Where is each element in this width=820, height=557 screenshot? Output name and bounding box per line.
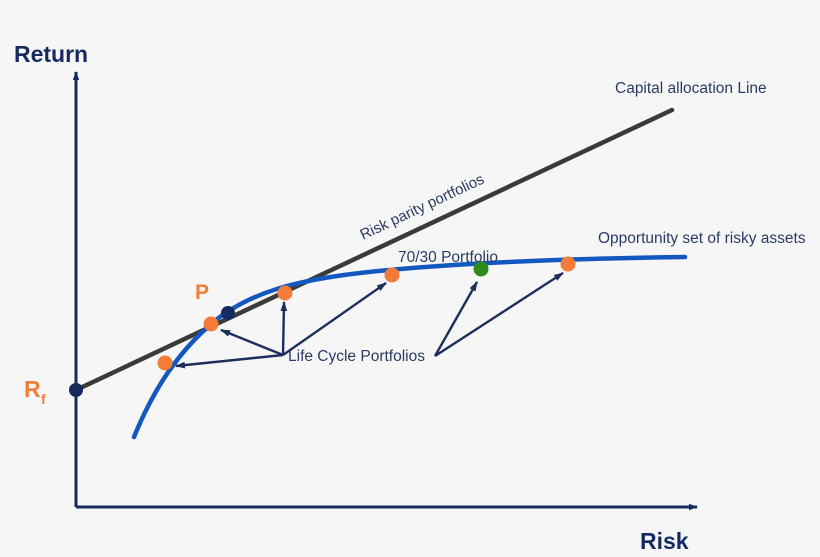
tangency-portfolio-label: P	[195, 281, 209, 304]
capital-allocation-line-label: Capital allocation Line	[615, 80, 767, 97]
capital-allocation-line-diagram: Return Risk R f P	[0, 0, 820, 557]
risk-free-rate-label: R	[24, 376, 41, 402]
risk-free-rate-marker	[69, 383, 83, 397]
life-cycle-marker-5	[561, 257, 576, 272]
opportunity-set-label: Opportunity set of risky assets	[598, 230, 806, 247]
tangency-portfolio-marker	[221, 306, 235, 320]
life-cycle-marker-1	[158, 356, 173, 371]
arrow-to-portfolio-2	[221, 330, 283, 355]
risk-free-rate-subscript: f	[41, 391, 46, 407]
arrow-to-portfolio-5	[435, 273, 563, 356]
life-cycle-marker-2	[204, 317, 219, 332]
life-cycle-marker-3	[278, 286, 293, 301]
arrow-to-portfolio-1	[176, 355, 283, 366]
life-cycle-marker-4	[385, 268, 400, 283]
arrow-to-portfolio-4	[283, 283, 386, 355]
portfolio-70-30-label: 70/30 Portfolio	[398, 249, 498, 266]
axes-group	[76, 72, 697, 507]
diagram-canvas: Return Risk R f P	[0, 0, 820, 557]
arrow-to-portfolio-3	[283, 302, 284, 355]
x-axis-label: Risk	[640, 528, 689, 554]
opportunity-set-curve	[134, 257, 685, 437]
life-cycle-portfolios-label: Life Cycle Portfolios	[288, 348, 425, 365]
right-leader-arrows	[435, 273, 563, 356]
y-axis-label: Return	[14, 41, 88, 67]
arrow-to-70-30-portfolio	[435, 282, 477, 356]
